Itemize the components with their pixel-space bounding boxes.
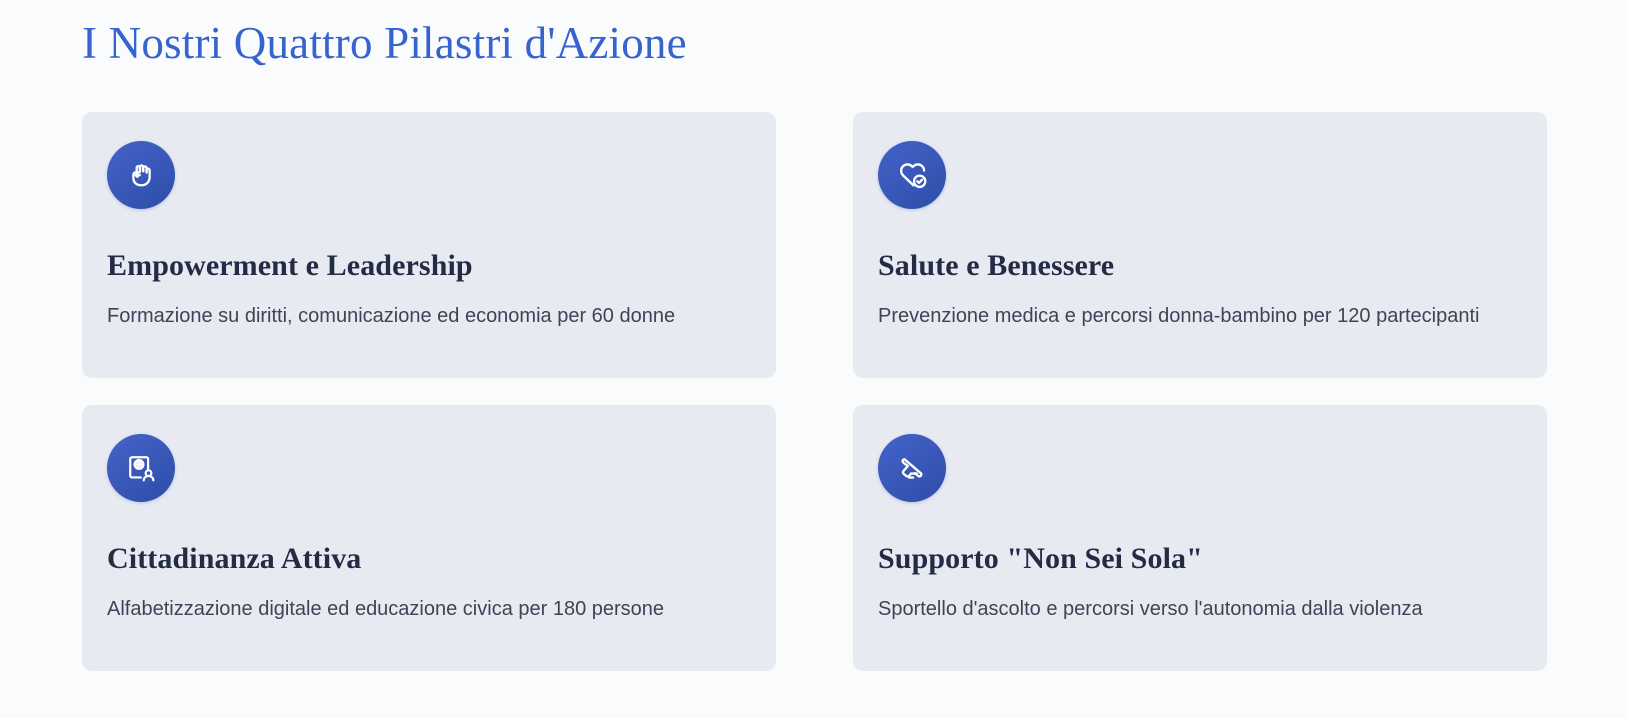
pillar-card-supporto[interactable]: Supporto "Non Sei Sola" Sportello d'asco… [853,405,1547,671]
pillar-heading: Supporto "Non Sei Sola" [878,541,1519,577]
pillar-heading: Cittadinanza Attiva [107,541,748,577]
pillars-section: I Nostri Quattro Pilastri d'Azione Empow… [0,0,1628,718]
pillar-card-empowerment[interactable]: Empowerment e Leadership Formazione su d… [82,112,776,378]
pillar-description: Alfabetizzazione digitale ed educazione … [107,591,747,627]
pillars-grid: Empowerment e Leadership Formazione su d… [82,112,1547,671]
page-title: I Nostri Quattro Pilastri d'Azione [82,14,687,72]
heart-circle-check-icon [878,141,946,209]
pillar-card-cittadinanza[interactable]: Cittadinanza Attiva Alfabetizzazione dig… [82,405,776,671]
pillar-description: Sportello d'ascolto e percorsi verso l'a… [878,591,1519,627]
pillar-heading: Empowerment e Leadership [107,248,748,284]
pillar-card-salute[interactable]: Salute e Benessere Prevenzione medica e … [853,112,1547,378]
id-card-globe-person-icon [107,434,175,502]
pillar-description: Formazione su diritti, comunicazione ed … [107,298,747,334]
pillar-heading: Salute e Benessere [878,248,1519,284]
pillar-description: Prevenzione medica e percorsi donna-bamb… [878,298,1518,334]
helping-hand-icon [878,434,946,502]
raised-fist-icon [107,141,175,209]
